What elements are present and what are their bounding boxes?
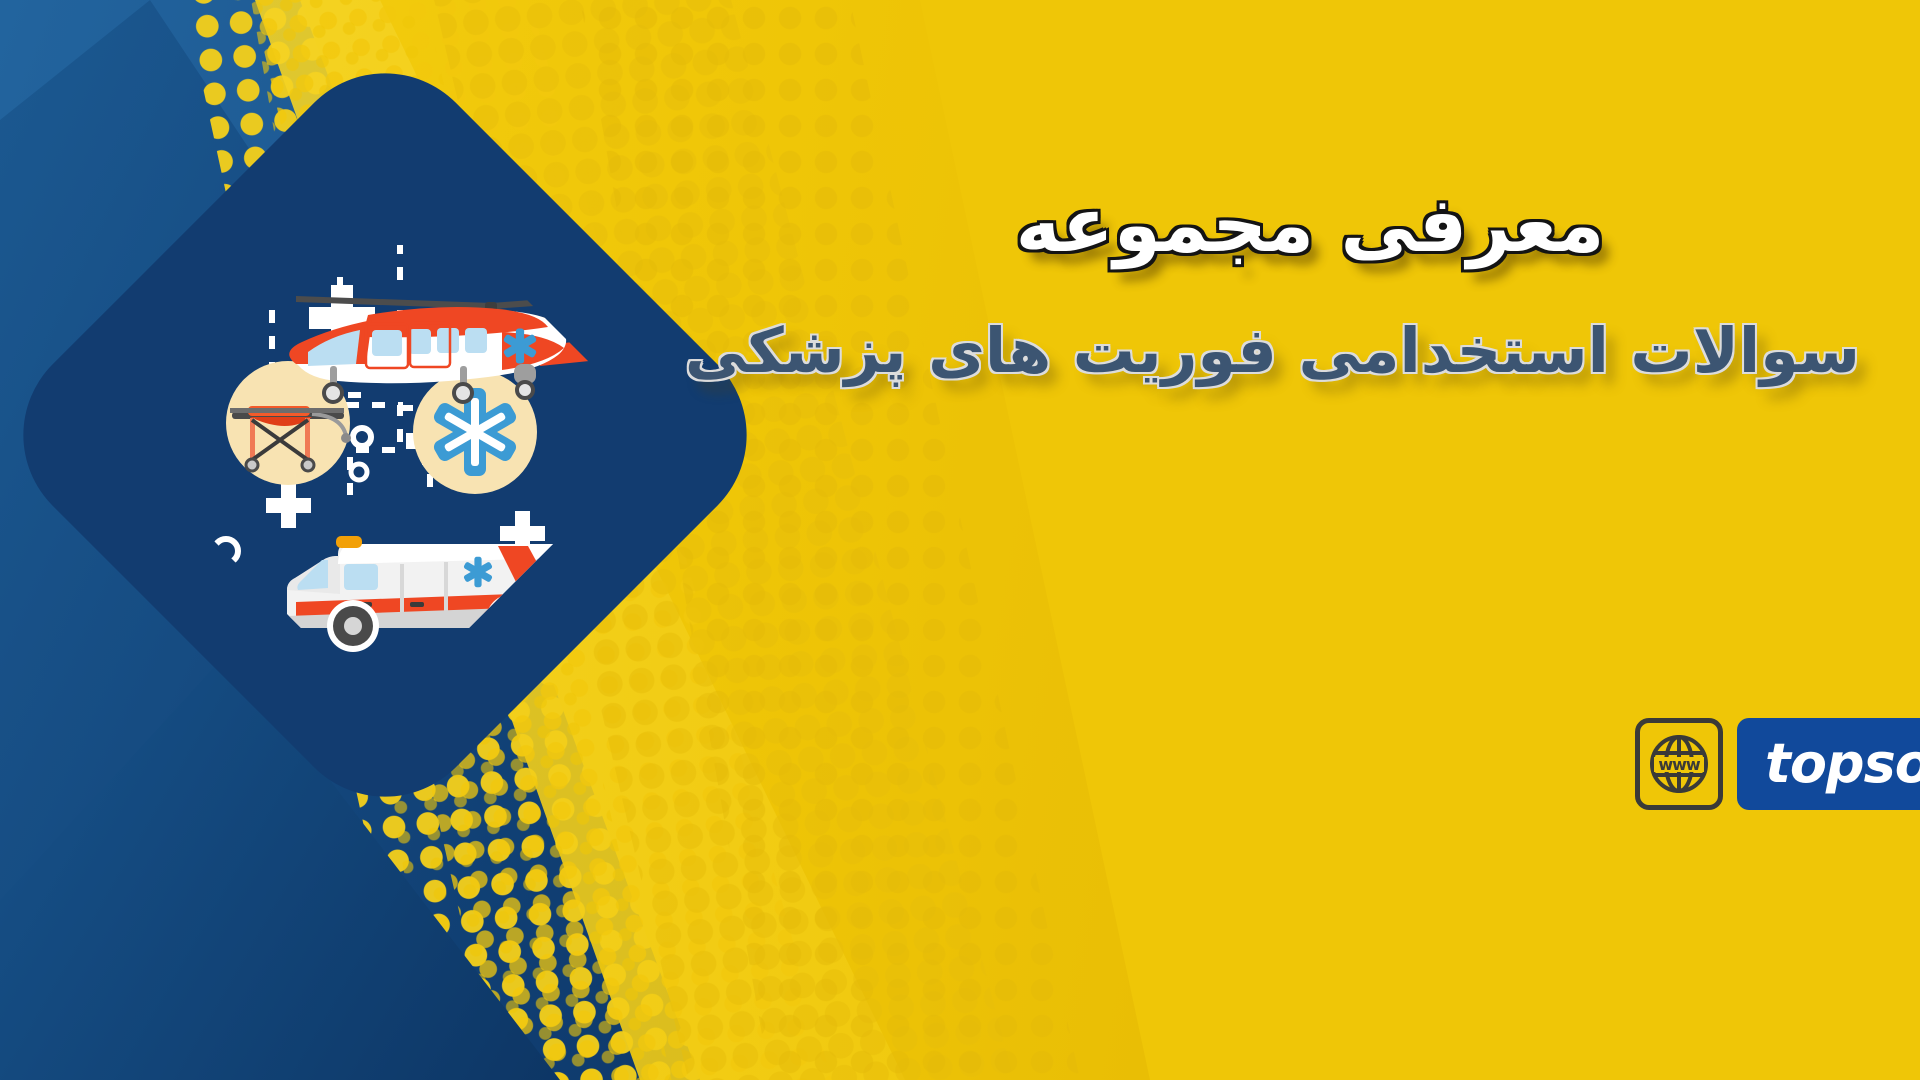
deco-circle-icon [351, 464, 367, 480]
ambulance-van-icon [287, 536, 565, 652]
headline-secondary: سوالات استخدامی فوریت های پزشکی [760, 314, 1860, 388]
wordmark-badge: topsoal.ir [1737, 718, 1920, 810]
deco-circle-icon [214, 539, 238, 563]
globe-www-icon: www [1635, 718, 1723, 810]
title-block: معرفی مجموعه سوالات استخدامی فوریت های پ… [760, 180, 1860, 388]
content-column: معرفی مجموعه سوالات استخدامی فوریت های پ… [690, 0, 1920, 1080]
helicopter-wheel-icon [324, 384, 342, 402]
banner-canvas: معرفی مجموعه سوالات استخدامی فوریت های پ… [0, 0, 1920, 1080]
helicopter-wheel-icon [517, 382, 533, 398]
svg-text:www: www [1658, 755, 1701, 774]
helicopter-wheel-icon [454, 384, 472, 402]
site-logo[interactable]: www topsoal.ir [1635, 718, 1920, 810]
deco-circle-icon [353, 428, 371, 446]
wordmark-text: topsoal.ir [1765, 737, 1920, 791]
illustration-diamond-card [100, 150, 670, 720]
medical-emergency-illustration [100, 150, 670, 720]
headline-primary: معرفی مجموعه [760, 180, 1860, 270]
